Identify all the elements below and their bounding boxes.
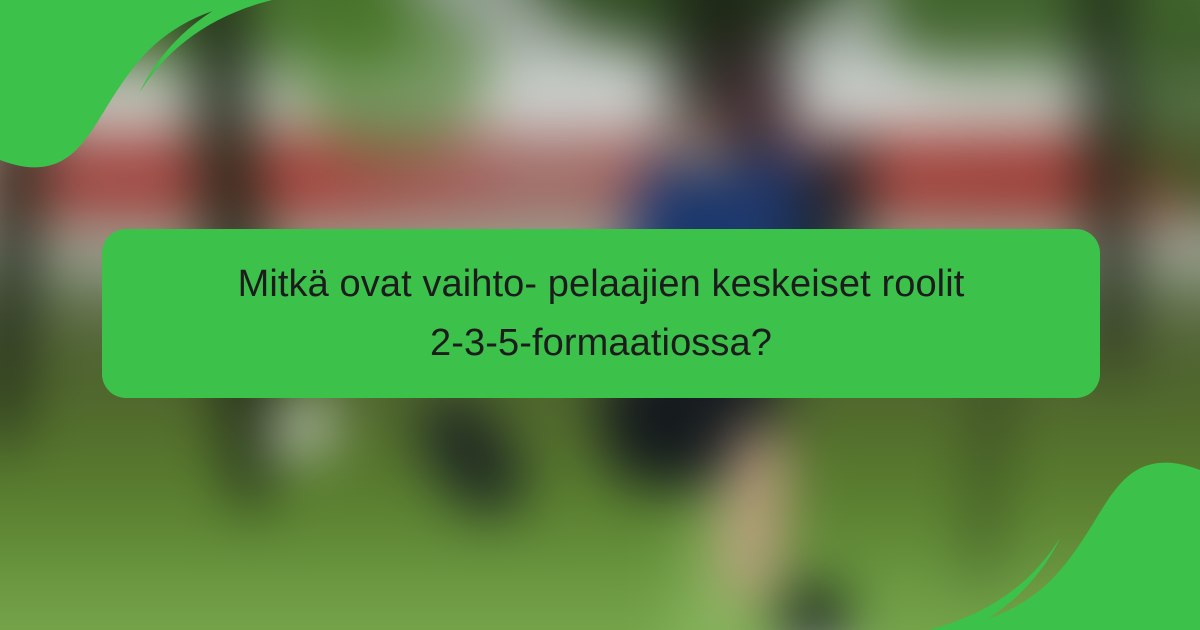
player-sock xyxy=(787,583,843,630)
background-red-fence-band xyxy=(0,131,1200,223)
question-card: Mitkä ovat vaihto- pelaajien keskeiset r… xyxy=(102,229,1100,398)
question-text: Mitkä ovat vaihto- pelaajien keskeiset r… xyxy=(148,255,1054,373)
player-head xyxy=(704,43,797,160)
og-image-canvas: Mitkä ovat vaihto- pelaajien keskeiset r… xyxy=(0,0,1200,630)
